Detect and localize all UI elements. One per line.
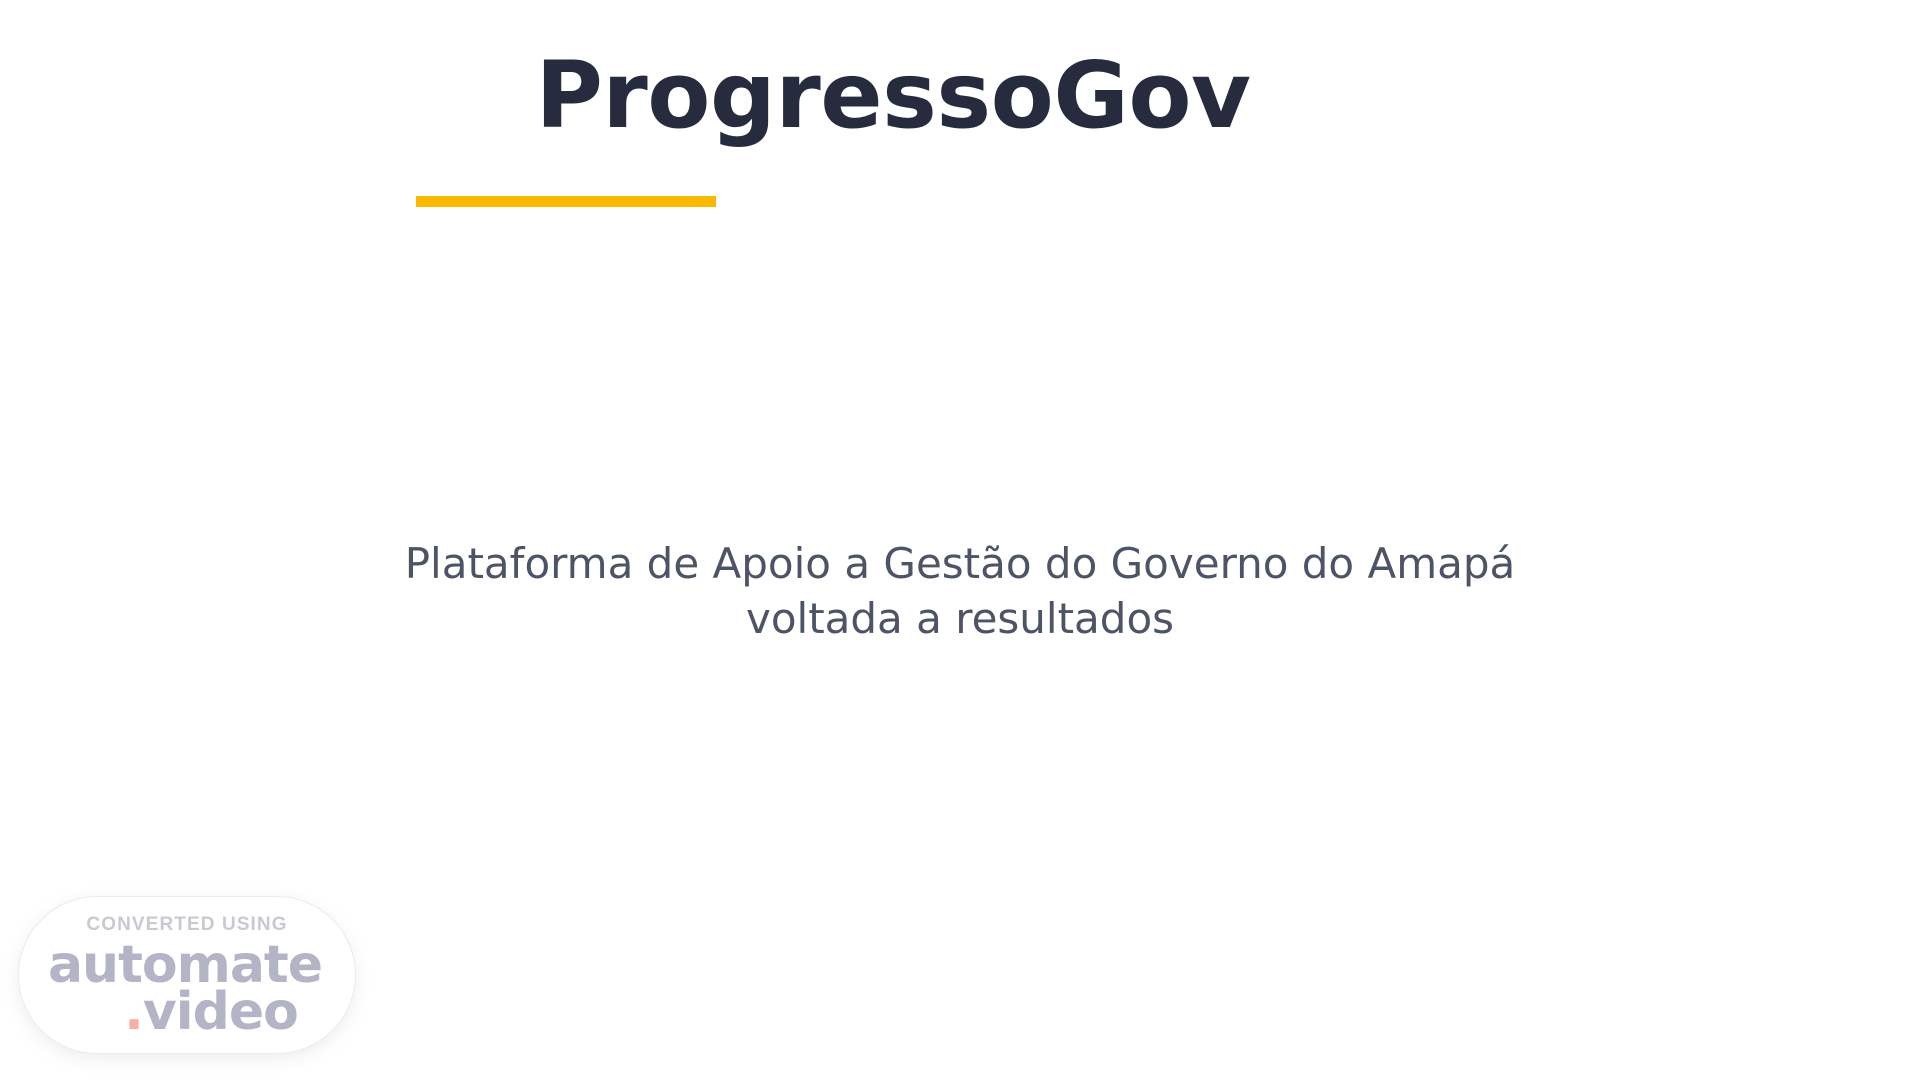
watermark-domain: .video	[124, 986, 298, 1039]
subtitle: Plataforma de Apoio a Gestão do Governo …	[330, 536, 1590, 647]
watermark-eyebrow: CONVERTED USING	[86, 915, 287, 934]
slide-canvas: ProgressoGov Plataforma de Apoio a Gestã…	[0, 0, 1920, 1080]
accent-underline	[416, 196, 716, 207]
watermark-domain-label: video	[143, 986, 298, 1039]
watermark-badge[interactable]: CONVERTED USING automate .video	[18, 896, 356, 1054]
page-title: ProgressoGov	[0, 48, 1786, 145]
subtitle-line-1: Plataforma de Apoio a Gestão do Governo …	[405, 539, 1516, 588]
watermark-dot-icon: .	[124, 986, 143, 1039]
subtitle-block: Plataforma de Apoio a Gestão do Governo …	[0, 536, 1920, 647]
subtitle-line-2: voltada a resultados	[746, 594, 1174, 643]
title-block: ProgressoGov	[0, 48, 1786, 145]
